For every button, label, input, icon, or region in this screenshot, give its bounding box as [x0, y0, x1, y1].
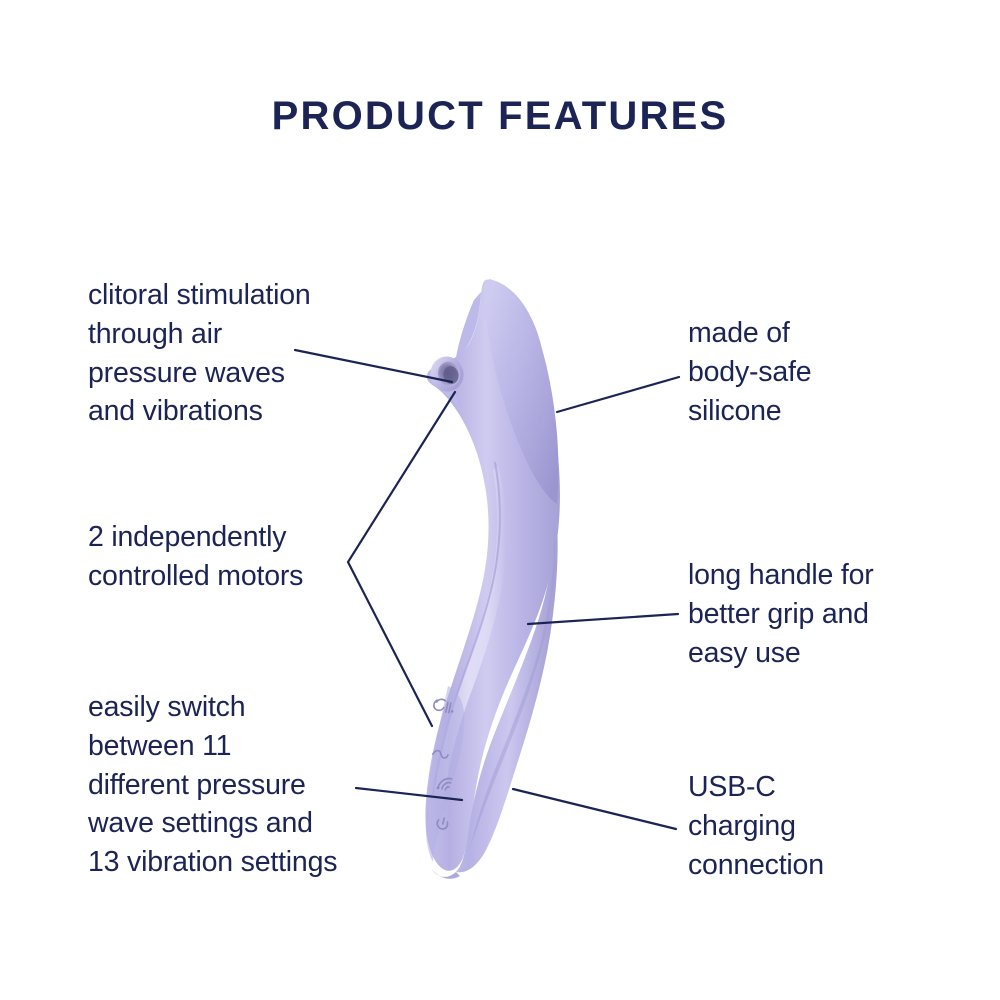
feature-handle: long handle for better grip and easy use	[688, 556, 948, 672]
feature-silicone: made of body-safe silicone	[688, 314, 948, 430]
feature-clitoral-stimulation: clitoral stimulation through air pressur…	[88, 276, 388, 431]
feature-motors: 2 independently controlled motors	[88, 518, 388, 596]
product-features-infographic: PRODUCT FEATURES	[0, 0, 1000, 1000]
feature-usb-c: USB-C charging connection	[688, 768, 948, 884]
feature-settings: easily switch between 11 different press…	[88, 688, 408, 882]
leader-line-usb	[513, 789, 676, 829]
leader-line-silicone	[557, 377, 679, 412]
product-body	[425, 279, 560, 879]
